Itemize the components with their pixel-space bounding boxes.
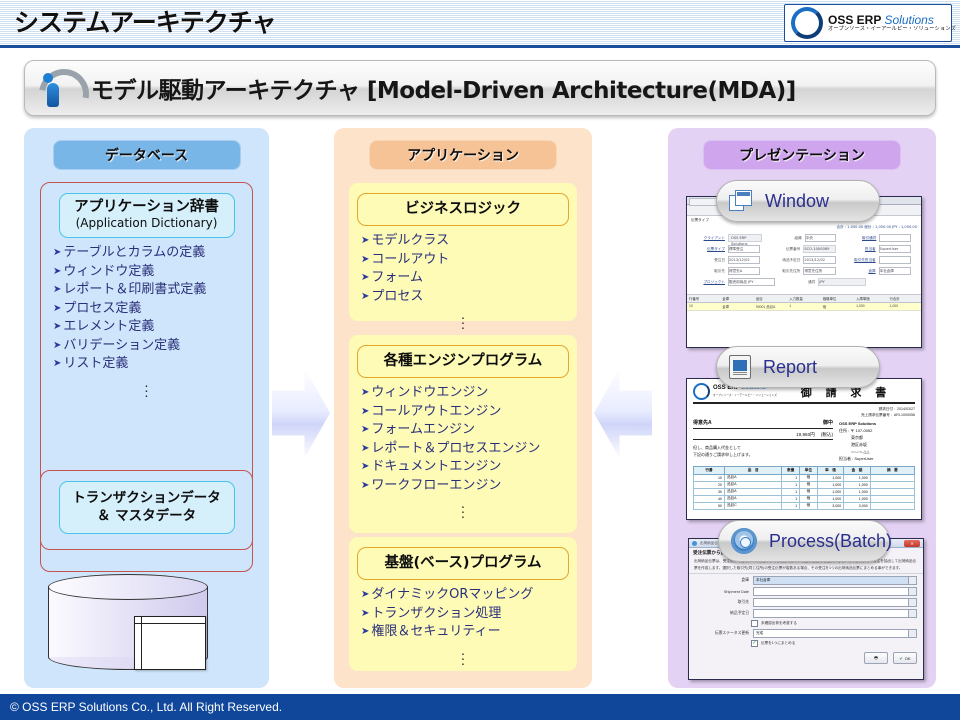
process-field-row[interactable]: 納品予定日: [695, 609, 917, 618]
column-header: 品目: [754, 295, 787, 302]
cell: 1: [782, 481, 800, 488]
cell: 品目A: [724, 495, 781, 502]
checkbox-label: 未確認出荷を考慮する: [761, 621, 797, 626]
cell: 1: [787, 303, 820, 310]
cell: [870, 488, 914, 495]
column-header: 価格単位: [821, 295, 854, 302]
close-icon[interactable]: ✕: [904, 540, 920, 547]
section-title-text: モデル駆動アーキテクチャ [Model-Driven Architecture(…: [91, 71, 796, 105]
table-row: 10 品目A 1 個 1,000 1,000: [694, 474, 915, 481]
ring-icon: [791, 7, 823, 39]
meta-value: 2014/03/27: [897, 407, 915, 411]
list-item: プロセス定義: [53, 300, 252, 319]
list-item: ウィンドウエンジン: [361, 384, 577, 403]
panel-base-programs: 基盤(ベース)プログラム ダイナミックORマッピング トランザクション処理 権限…: [348, 536, 578, 672]
cell: 3,000: [817, 502, 844, 509]
column-header: 単位: [800, 466, 818, 474]
list-item: フォーム: [361, 269, 577, 288]
field-label: 通貨: [781, 279, 815, 285]
field-value[interactable]: 得意先住所: [803, 267, 835, 275]
checkbox-icon[interactable]: ✓: [751, 640, 758, 647]
cell: 品目A: [724, 474, 781, 481]
cell: 個: [800, 481, 818, 488]
list-item: レポート＆印刷書式定義: [53, 281, 252, 300]
column-header: 金 額: [844, 466, 871, 474]
checkbox-label: 伝票を1つにまとめる: [761, 641, 795, 646]
window-form[interactable]: クライアント OSS ERP Solutions 組織 中央 取引通貨 伝票タイ…: [687, 231, 921, 292]
report-amount: 19,950円: [796, 431, 815, 438]
list-item: テーブルとカラムの定義: [53, 244, 252, 263]
warehouse-select[interactable]: 本社倉庫: [753, 576, 917, 585]
ok-button[interactable]: ✔ OK: [893, 652, 917, 664]
cell: 20: [694, 481, 725, 488]
dictionary-title-ja: アプリケーション辞書: [60, 199, 234, 216]
chevron-down-icon[interactable]: [908, 630, 916, 637]
ellipsis-vertical: ...: [349, 501, 577, 516]
process-footer: 🖶 ✔ OK: [689, 649, 923, 668]
field-label: 取引先住所: [766, 268, 800, 274]
table-row: 20 品目A 1 個 1,000 1,000: [694, 481, 915, 488]
field-value[interactable]: 得意先A: [728, 267, 760, 275]
base-programs-title: 基盤(ベース)プログラム: [358, 554, 568, 572]
field-label: 取引先担当者: [842, 257, 876, 263]
report-note-2: 下記の通りご請求申し上げます。: [693, 451, 833, 458]
meta-label: 売上請求伝票番号 :: [861, 413, 892, 417]
field-value[interactable]: 2013/12/02: [803, 256, 835, 264]
field-label: 取引先: [691, 268, 725, 274]
cell: 10: [694, 474, 725, 481]
cell: 1,000: [817, 495, 844, 502]
window-icon: [729, 190, 753, 212]
tile-label-process[interactable]: Process(Batch): [718, 520, 890, 562]
field-value[interactable]: 販売用商品 JPY: [728, 278, 775, 286]
print-button[interactable]: 🖶: [864, 652, 888, 664]
field-label: 倉庫: [842, 268, 876, 274]
field-value[interactable]: [879, 234, 911, 242]
cell: 1,000: [844, 495, 871, 502]
list-item: ワークフローエンジン: [361, 477, 577, 496]
field-value[interactable]: SCO-1000089: [803, 245, 835, 253]
cell: 個: [800, 495, 818, 502]
lookup-icon[interactable]: [908, 599, 916, 606]
panel-transaction-data: トランザクションデータ ＆ マスタデータ: [40, 470, 253, 550]
process-field-row[interactable]: Shipment Date: [695, 587, 917, 596]
field-value[interactable]: OSS ERP Solutions: [728, 234, 762, 242]
section-title-banner: モデル駆動アーキテクチャ [Model-Driven Architecture(…: [24, 60, 936, 116]
cell: [870, 495, 914, 502]
tile-label-text: Window: [765, 191, 829, 212]
column-header: 行合計: [888, 295, 921, 302]
cell: 90001 品目A: [754, 303, 787, 310]
grid-header-row: 行番号 倉庫 品目 入力数量 価格単位 入庫単価 行合計: [687, 295, 921, 303]
cell: 1,000: [817, 474, 844, 481]
chip-application-dictionary: アプリケーション辞書 (Application Dictionary): [59, 193, 235, 238]
tile-label-text: Process(Batch): [769, 531, 892, 552]
form-row[interactable]: 取引先 得意先A 取引先住所 得意先住所 倉庫 本社倉庫: [691, 267, 917, 275]
page-title: システムアーキテクチャ: [14, 3, 276, 39]
cell: 品目A: [724, 488, 781, 495]
logo-sub-text: オープンソース・イーアールピー・ソリューションズ: [828, 27, 956, 32]
list-item: プロセス: [361, 288, 577, 307]
engine-programs-item-list: ウィンドウエンジン コールアウトエンジン フォームエンジン レポート＆プロセスエ…: [349, 384, 577, 495]
ring-icon: [693, 383, 710, 400]
cell: 40: [694, 495, 725, 502]
tile-label-text: Report: [763, 357, 817, 378]
list-item: レポート＆プロセスエンジン: [361, 440, 577, 459]
field-value[interactable]: 本社倉庫: [879, 267, 911, 275]
transaction-line2: ＆ マスタデータ: [60, 507, 234, 525]
cell: 3,000: [844, 502, 871, 509]
table-header-row: 行番 品 目 数量 単位 単 価 金 額 摘 要: [694, 466, 915, 474]
panel-business-logic: ビジネスロジック モデルクラス コールアウト フォーム プロセス ...: [348, 182, 578, 322]
column-header: 数量: [782, 466, 800, 474]
window-grid[interactable]: 行番号 倉庫 品目 入力数量 価格単位 入庫単価 行合計 10 倉庫 90001…: [687, 294, 921, 311]
field-value: 完成: [754, 631, 908, 636]
field-value[interactable]: [879, 256, 911, 264]
report-meta: 請求日付 : 2014/03/27 売上請求伝票番号 : ARI-1000056: [687, 404, 921, 418]
window-totals: 合計 : 1,000.00 総計 : 1,050.00 JPY : 1,050.…: [687, 224, 921, 231]
report-person-label: 担当者 :: [839, 456, 853, 461]
process-field-row[interactable]: 倉庫 本社倉庫: [695, 576, 917, 585]
field-label: クライアント: [691, 235, 725, 241]
ellipsis-vertical: ...: [349, 648, 577, 663]
cell: 品目A: [724, 481, 781, 488]
column-header: 行番: [694, 466, 725, 474]
cell: 個: [800, 474, 818, 481]
cell: 1: [782, 502, 800, 509]
cell: 1: [782, 488, 800, 495]
delivery-date-field[interactable]: [753, 609, 917, 618]
table-row: 50 品目C 1 個 3,000 3,000: [694, 502, 915, 509]
checkbox-consolidate[interactable]: ✓ 伝票を1つにまとめる: [751, 640, 917, 647]
column-application: アプリケーション ビジネスロジック モデルクラス コールアウト フォーム プロセ…: [334, 128, 592, 688]
screenshot-report[interactable]: OSS ERP Solutions オープンソース・イーアールピー・ソリューショ…: [686, 378, 922, 520]
field-label: 受注日: [691, 257, 725, 263]
field-value[interactable]: SuperUser: [879, 245, 911, 253]
column-header: 単 価: [817, 466, 844, 474]
form-row[interactable]: 受注日 2013/12/02 納品予定日 2013/12/02 取引先担当者: [691, 256, 917, 264]
engine-programs-title: 各種エンジンプログラム: [358, 352, 568, 370]
field-label: 伝票ステータス更新: [695, 631, 749, 636]
brand-logo: OSS ERP Solutions オープンソース・イーアールピー・ソリューショ…: [784, 4, 952, 42]
report-customer: 得意先A: [693, 420, 712, 427]
chevron-down-icon[interactable]: [908, 577, 916, 584]
business-partner-field[interactable]: [753, 598, 917, 607]
report-honorific: 御中: [823, 420, 833, 427]
transaction-line1: トランザクションデータ: [60, 489, 234, 507]
list-item: モデルクラス: [361, 232, 577, 251]
field-label: 取引通貨: [842, 235, 876, 241]
cell: 10: [687, 303, 720, 310]
cell: 1,000: [817, 488, 844, 495]
check-icon: ✔: [899, 656, 902, 661]
report-addr-line: ○○-○○-△△: [839, 448, 915, 455]
business-logic-title: ビジネスロジック: [358, 200, 568, 218]
cell: 個: [821, 303, 854, 310]
process-field-row[interactable]: 伝票ステータス更新 完成: [695, 629, 917, 638]
field-label: Shipment Date: [695, 590, 749, 594]
table-row: 40 品目A 1 個 1,000 1,000: [694, 495, 915, 502]
column-header-database: データベース: [53, 140, 241, 170]
report-person: SuperUser: [854, 456, 873, 461]
report-addr-line: 東京都: [839, 434, 915, 441]
list-item: リスト定義: [53, 355, 252, 374]
doc-status-select[interactable]: 完成: [753, 629, 917, 638]
report-addr-line: 港区赤坂: [839, 441, 915, 448]
report-company: OSS ERP Solutions: [839, 420, 915, 427]
tile-label-report[interactable]: Report: [716, 346, 880, 388]
field-label: 伝票番号: [766, 246, 800, 252]
form-row[interactable]: 伝票タイプ 標準受注 伝票番号 SCO-1000089 担当者 SuperUse…: [691, 245, 917, 253]
base-programs-item-list: ダイナミックORマッピング トランザクション処理 権限＆セキュリティー: [349, 586, 577, 642]
cell: 個: [800, 488, 818, 495]
calendar-icon[interactable]: [908, 610, 916, 617]
table-row[interactable]: 10 倉庫 90001 品目A 1 個 1,000 1,000: [687, 303, 921, 311]
form-row[interactable]: プロジェクト 販売用商品 JPY 通貨 JPY: [691, 278, 917, 286]
form-row[interactable]: クライアント OSS ERP Solutions 組織 中央 取引通貨: [691, 234, 917, 242]
field-value[interactable]: 2013/12/02: [728, 256, 760, 264]
report-logo-sub: オープンソース・イーアールピー・ソリューションズ: [713, 392, 777, 399]
report-addr-line: 〒 107-0052: [850, 428, 872, 433]
chip-engine-programs: 各種エンジンプログラム: [357, 345, 569, 378]
column-header-application: アプリケーション: [369, 140, 557, 170]
column-header-presentation: プレゼンテーション: [703, 140, 901, 170]
report-addr-label: 住所 :: [839, 428, 849, 433]
field-label: 倉庫: [695, 578, 749, 583]
shipment-date-field[interactable]: [753, 587, 917, 596]
checkbox-unconfirmed-shipment[interactable]: 未確認出荷を考慮する: [751, 620, 917, 627]
meta-label: 請求日付 :: [879, 407, 895, 411]
business-logic-item-list: モデルクラス コールアウト フォーム プロセス: [349, 232, 577, 306]
chip-transaction-data: トランザクションデータ ＆ マスタデータ: [59, 481, 235, 534]
cell: 個: [800, 502, 818, 509]
cell: [870, 502, 914, 509]
logo-italic-text: Solutions: [884, 13, 933, 27]
field-label: 納品予定日: [695, 611, 749, 616]
dictionary-title-en: (Application Dictionary): [60, 216, 234, 231]
printer-icon: 🖶: [874, 655, 878, 662]
field-value: 本社倉庫: [754, 578, 908, 583]
chip-base-programs: 基盤(ベース)プログラム: [357, 547, 569, 580]
list-item: フォームエンジン: [361, 421, 577, 440]
field-value[interactable]: 中央: [805, 234, 837, 242]
calendar-icon[interactable]: [908, 588, 916, 595]
field-label: 担当者: [842, 246, 876, 252]
list-item: ウィンドウ定義: [53, 263, 252, 282]
cell: 倉庫: [720, 303, 753, 310]
dictionary-item-list: テーブルとカラムの定義 ウィンドウ定義 レポート＆印刷書式定義 プロセス定義 エ…: [41, 244, 252, 374]
cell: 1,000: [844, 488, 871, 495]
field-value[interactable]: 標準受注: [728, 245, 760, 253]
logo-main-text: OSS ERP: [828, 13, 881, 27]
tile-label-window[interactable]: Window: [716, 180, 880, 222]
cell: 1,000: [844, 474, 871, 481]
report-note-1: 但し、商品購入代金として: [693, 444, 833, 451]
field-label: 伝票タイプ: [691, 246, 725, 252]
copyright-text: © OSS ERP Solutions Co., Ltd. All Right …: [10, 700, 282, 714]
cell: 品目C: [724, 502, 781, 509]
column-header: 品 目: [724, 466, 781, 474]
cell: 1,000: [888, 303, 921, 310]
field-value[interactable]: JPY: [818, 278, 865, 286]
column-header: 入力数量: [787, 295, 820, 302]
person-swoosh-icon: [35, 65, 81, 111]
cell: [870, 481, 914, 488]
info-icon: [692, 541, 697, 546]
app-header: システムアーキテクチャ OSS ERP Solutions オープンソース・イー…: [0, 0, 960, 48]
list-item: トランザクション処理: [361, 605, 577, 624]
cell: 30: [694, 488, 725, 495]
column-header: 入庫単価: [854, 295, 887, 302]
table-row: 30 品目A 1 個 1,000 1,000: [694, 488, 915, 495]
cell: 1,000: [854, 303, 887, 310]
ok-label: OK: [905, 656, 911, 661]
list-item: コールアウト: [361, 251, 577, 270]
field-label: プロジェクト: [691, 279, 725, 285]
arrow-pres-to-app: [594, 366, 652, 460]
report-table: 行番 品 目 数量 単位 単 価 金 額 摘 要 10 品目A 1 個 1,00…: [693, 466, 915, 510]
field-label: 納品予定日: [766, 257, 800, 263]
cell: 1,000: [844, 481, 871, 488]
report-tax-note: (税込): [821, 431, 833, 438]
ellipsis-vertical: ...: [41, 380, 252, 395]
ellipsis-vertical: ...: [349, 312, 577, 327]
field-label: 取引先: [695, 600, 749, 605]
list-item: エレメント定義: [53, 318, 252, 337]
cell: 1,000: [817, 481, 844, 488]
list-item: バリデーション定義: [53, 337, 252, 356]
cell: 1: [782, 495, 800, 502]
page-footer: © OSS ERP Solutions Co., Ltd. All Right …: [0, 694, 960, 720]
field-label: 組織: [768, 235, 802, 241]
checkbox-icon[interactable]: [751, 620, 758, 627]
column-header: 行番号: [687, 295, 720, 302]
cell: 50: [694, 502, 725, 509]
list-item: コールアウトエンジン: [361, 403, 577, 422]
list-item: ダイナミックORマッピング: [361, 586, 577, 605]
gear-icon: [731, 528, 757, 554]
chip-business-logic: ビジネスロジック: [357, 193, 569, 226]
panel-engine-programs: 各種エンジンプログラム ウィンドウエンジン コールアウトエンジン フォームエンジ…: [348, 334, 578, 534]
column-header: 摘 要: [870, 466, 914, 474]
arrow-db-to-app: [272, 366, 330, 460]
report-icon: [729, 355, 751, 379]
list-item: 権限＆セキュリティー: [361, 623, 577, 642]
column-header: 倉庫: [720, 295, 753, 302]
list-item: ドキュメントエンジン: [361, 458, 577, 477]
cell: 1: [782, 474, 800, 481]
cell: [870, 474, 914, 481]
database-cylinder-icon: [48, 574, 208, 670]
meta-value: ARI-1000056: [894, 413, 915, 417]
process-field-row[interactable]: 取引先: [695, 598, 917, 607]
